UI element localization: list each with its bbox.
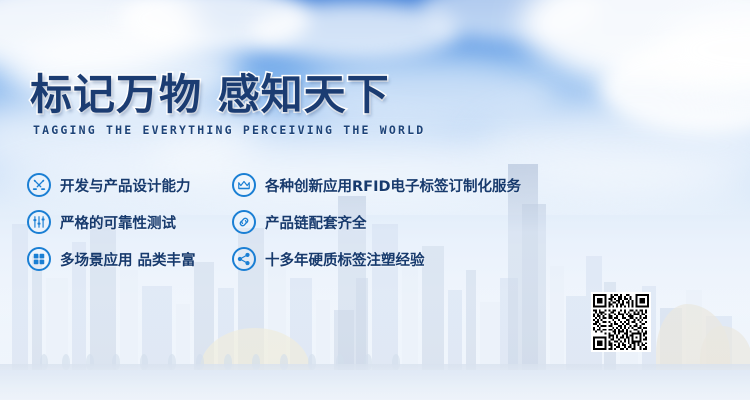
page-subtitle: TAGGING THE EVERYTHING PERCEIVING THE WO… (33, 123, 425, 137)
feature-row: 开发与产品设计能力 各种创新应用RFID电子标签订制化服务 (27, 170, 727, 207)
feature-label: 十多年硬质标签注塑经验 (265, 249, 425, 270)
feature-item-rfid-service[interactable]: 各种创新应用RFID电子标签订制化服务 (232, 170, 727, 200)
sliders-icon (27, 210, 51, 234)
tools-icon (27, 173, 51, 197)
feature-list: 开发与产品设计能力 各种创新应用RFID电子标签订制化服务 (27, 170, 727, 281)
feature-column-right: 产品链配套齐全 (232, 207, 727, 237)
feature-column-left: 严格的可靠性测试 (27, 207, 232, 237)
feature-item-molding-experience[interactable]: 十多年硬质标签注塑经验 (232, 244, 727, 274)
feature-column-left: 开发与产品设计能力 (27, 170, 232, 200)
feature-item-development[interactable]: 开发与产品设计能力 (27, 170, 232, 200)
feature-label: 严格的可靠性测试 (60, 212, 176, 233)
feature-label: 产品链配套齐全 (265, 212, 367, 233)
feature-column-right: 各种创新应用RFID电子标签订制化服务 (232, 170, 727, 200)
feature-row: 严格的可靠性测试 产品链配套齐全 (27, 207, 727, 244)
qr-code-graphic (593, 294, 649, 350)
feature-label: 开发与产品设计能力 (60, 175, 191, 196)
promo-banner: 标记万物 感知天下 TAGGING THE EVERYTHING PERCEIV… (0, 0, 750, 400)
feature-item-multi-scenario[interactable]: 多场景应用 品类丰富 (27, 244, 232, 274)
crown-icon (232, 173, 256, 197)
feature-item-product-chain[interactable]: 产品链配套齐全 (232, 207, 727, 237)
qr-code[interactable] (591, 292, 651, 352)
feature-label: 各种创新应用RFID电子标签订制化服务 (265, 175, 521, 196)
feature-item-reliability-test[interactable]: 严格的可靠性测试 (27, 207, 232, 237)
grid-icon (27, 247, 51, 271)
feature-row: 多场景应用 品类丰富 十多年硬质标签注塑经验 (27, 244, 727, 281)
feature-column-right: 十多年硬质标签注塑经验 (232, 244, 727, 274)
feature-column-left: 多场景应用 品类丰富 (27, 244, 232, 274)
share-icon (232, 247, 256, 271)
page-title: 标记万物 感知天下 (30, 74, 425, 116)
headline-block: 标记万物 感知天下 TAGGING THE EVERYTHING PERCEIV… (30, 74, 425, 137)
link-icon (232, 210, 256, 234)
feature-label: 多场景应用 品类丰富 (60, 249, 196, 270)
